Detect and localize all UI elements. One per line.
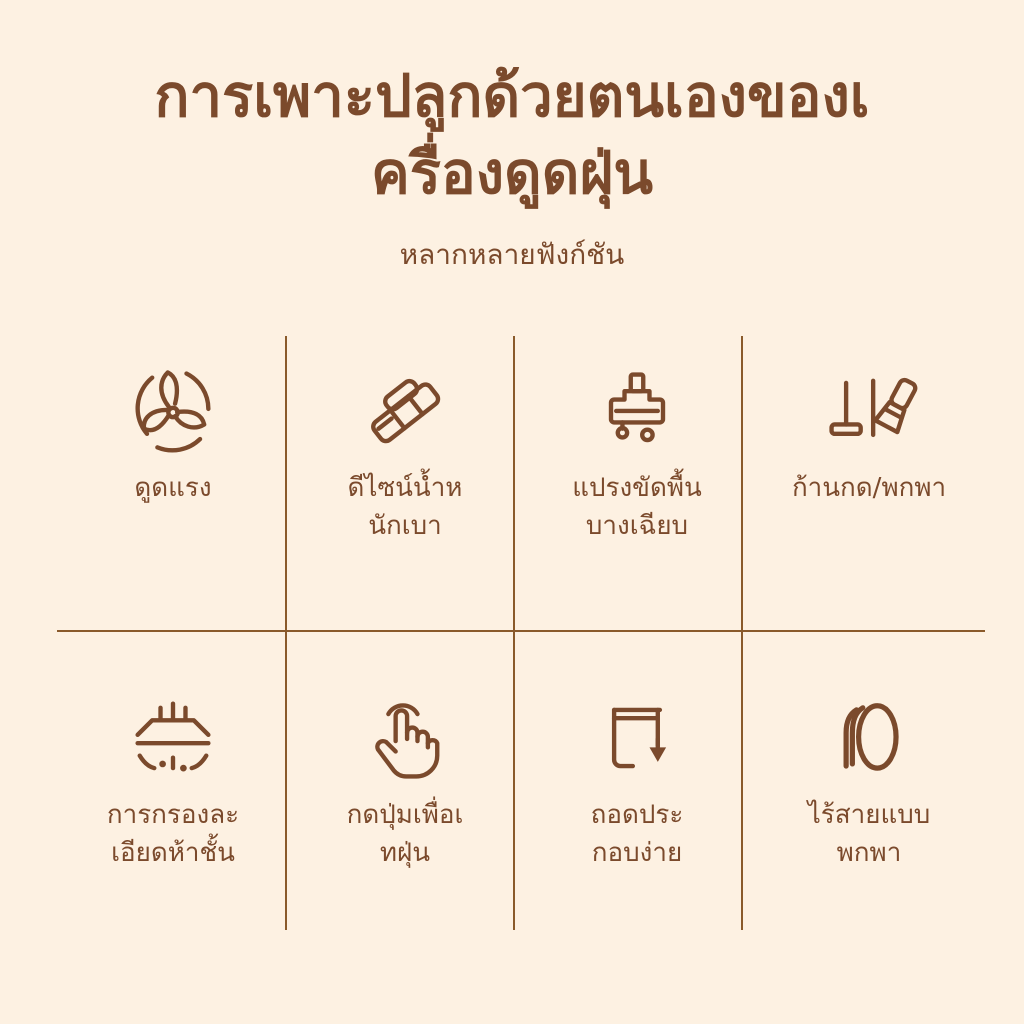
wand-and-nozzle-icon <box>817 360 921 464</box>
feature-label-1: ดูดแรง <box>134 470 211 508</box>
feature-infographic: การเพาะปลูกด้วยตนเองของเ ครื่องดูดฝุ่น ห… <box>0 0 1024 1024</box>
fan-turbine-icon <box>121 360 225 464</box>
feature-label-7: ถอดประ กอบง่าย <box>591 797 684 872</box>
feature-cell-4: ก้านกด/พกพา <box>753 336 985 633</box>
multi-layer-filter-icon <box>121 687 225 791</box>
feature-label-5: การกรองละ เอียดห้าชั้น <box>107 797 239 872</box>
feature-cell-7: ถอดประ กอบง่าย <box>521 633 753 930</box>
feature-label-3: แปรงขัดพื้น บางเฉียบ <box>572 470 702 545</box>
feature-cell-6: กดปุ่มเพื่อเ ทฝุ่น <box>289 633 521 930</box>
feature-cell-5: การกรองละ เอียดห้าชั้น <box>57 633 289 930</box>
feature-cell-8: ไร้สายแบบ พกพา <box>753 633 985 930</box>
page-title: การเพาะปลูกด้วยตนเองของเ ครื่องดูดฝุ่น <box>0 58 1024 211</box>
floor-brush-head-icon <box>585 360 689 464</box>
feature-cell-3: แปรงขัดพื้น บางเฉียบ <box>521 336 753 633</box>
feature-label-6: กดปุ่มเพื่อเ ทฝุ่น <box>347 797 464 872</box>
tap-finger-icon <box>353 687 457 791</box>
feature-label-4: ก้านกด/พกพา <box>792 470 946 508</box>
feature-grid: ดูดแรง ดีไซน์น้ำห นักเบา <box>57 336 985 930</box>
feature-label-8: ไร้สายแบบ พกพา <box>808 797 931 872</box>
dust-bin-release-icon <box>585 687 689 791</box>
header: การเพาะปลูกด้วยตนเองของเ ครื่องดูดฝุ่น ห… <box>0 58 1024 273</box>
feature-label-2: ดีไซน์น้ำห นักเบา <box>348 470 463 545</box>
cordless-loop-icon <box>817 687 921 791</box>
vacuum-body-icon <box>353 360 457 464</box>
feature-cell-2: ดีไซน์น้ำห นักเบา <box>289 336 521 633</box>
feature-cell-1: ดูดแรง <box>57 336 289 633</box>
page-subtitle: หลากหลายฟังก์ชัน <box>0 237 1024 273</box>
